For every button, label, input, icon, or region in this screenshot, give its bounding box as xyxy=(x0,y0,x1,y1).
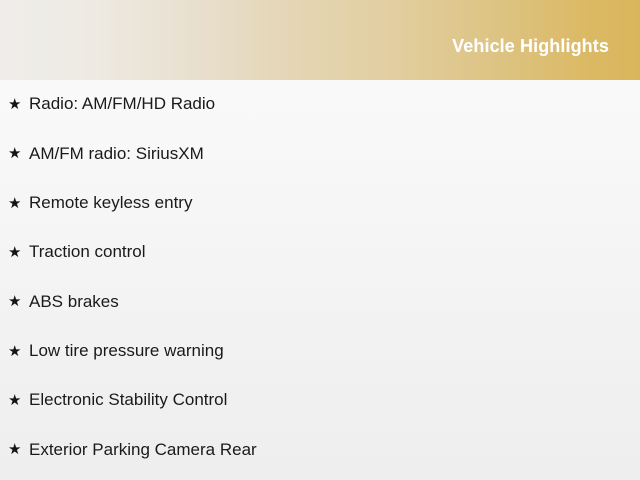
star-icon: ★ xyxy=(8,146,29,161)
star-icon: ★ xyxy=(8,442,29,457)
highlight-label: AM/FM radio: SiriusXM xyxy=(29,144,204,164)
star-icon: ★ xyxy=(8,97,29,112)
vehicle-highlights-list: ★ Radio: AM/FM/HD Radio ★ AM/FM radio: S… xyxy=(0,80,640,474)
star-icon: ★ xyxy=(8,344,29,359)
vehicle-highlights-page: Vehicle Highlights ★ Radio: AM/FM/HD Rad… xyxy=(0,0,640,480)
highlight-label: ABS brakes xyxy=(29,292,119,312)
highlight-label: Remote keyless entry xyxy=(29,193,192,213)
highlight-label: Electronic Stability Control xyxy=(29,390,227,410)
star-icon: ★ xyxy=(8,196,29,211)
star-icon: ★ xyxy=(8,393,29,408)
list-item: ★ Radio: AM/FM/HD Radio xyxy=(0,80,640,129)
list-item: ★ Traction control xyxy=(0,228,640,277)
star-icon: ★ xyxy=(8,245,29,260)
page-title: Vehicle Highlights xyxy=(452,36,640,57)
star-icon: ★ xyxy=(8,294,29,309)
highlight-label: Radio: AM/FM/HD Radio xyxy=(29,94,215,114)
list-item: ★ Low tire pressure warning xyxy=(0,326,640,375)
list-item: ★ Exterior Parking Camera Rear xyxy=(0,425,640,474)
highlight-label: Low tire pressure warning xyxy=(29,341,224,361)
list-item: ★ ABS brakes xyxy=(0,277,640,326)
highlight-label: Traction control xyxy=(29,242,146,262)
highlight-label: Exterior Parking Camera Rear xyxy=(29,440,257,460)
list-item: ★ Remote keyless entry xyxy=(0,179,640,228)
page-header-banner: Vehicle Highlights xyxy=(0,0,640,80)
list-item: ★ AM/FM radio: SiriusXM xyxy=(0,129,640,178)
list-item: ★ Electronic Stability Control xyxy=(0,376,640,425)
